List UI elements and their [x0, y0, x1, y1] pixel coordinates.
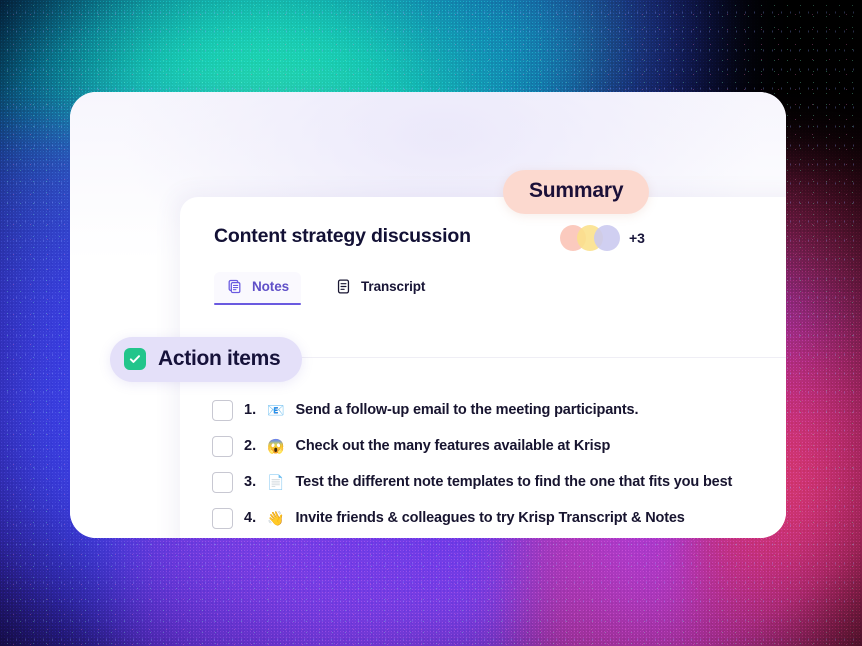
transcript-icon: [335, 278, 352, 295]
tab-transcript[interactable]: Transcript: [323, 272, 437, 304]
waving-hand-emoji: 👋: [267, 511, 284, 525]
avatar: [594, 225, 620, 251]
tab-notes[interactable]: Notes: [214, 272, 301, 304]
screaming-face-emoji: 😱: [267, 439, 284, 453]
avatar-overflow-count: +3: [629, 230, 645, 246]
email-emoji: 📧: [267, 403, 284, 417]
tab-bar: Notes Transcript: [214, 272, 772, 304]
action-items-label: Action items: [158, 347, 280, 371]
panel-header: Content strategy discussion Notes: [180, 197, 786, 304]
item-checkbox[interactable]: [212, 436, 233, 457]
item-checkbox[interactable]: [212, 472, 233, 493]
list-item[interactable]: 2. 😱 Check out the many features availab…: [212, 429, 848, 463]
item-number: 2.: [244, 438, 256, 454]
item-text: Invite friends & colleagues to try Krisp…: [296, 510, 685, 526]
list-item[interactable]: 3. 📄 Test the different note templates t…: [212, 465, 848, 499]
page-title: Content strategy discussion: [214, 225, 772, 248]
list-item[interactable]: 4. 👋 Invite friends & colleagues to try …: [212, 501, 848, 535]
checkbox-checked-icon: [124, 348, 146, 370]
item-text: Send a follow-up email to the meeting pa…: [296, 402, 639, 418]
page-emoji: 📄: [267, 475, 284, 489]
participant-avatars[interactable]: +3: [560, 225, 645, 251]
screenshot-stage: Content strategy discussion Notes: [0, 0, 862, 646]
item-text: Check out the many features available at…: [296, 438, 611, 454]
list-item[interactable]: 1. 📧 Send a follow-up email to the meeti…: [212, 393, 848, 427]
item-number: 3.: [244, 474, 256, 490]
item-text: Test the different note templates to fin…: [296, 474, 733, 490]
item-checkbox[interactable]: [212, 508, 233, 529]
item-number: 4.: [244, 510, 256, 526]
tab-transcript-label: Transcript: [361, 279, 425, 294]
action-items-badge[interactable]: Action items: [110, 337, 302, 382]
item-number: 1.: [244, 402, 256, 418]
notes-icon: [226, 278, 243, 295]
action-items-list: 1. 📧 Send a follow-up email to the meeti…: [212, 393, 848, 537]
tab-notes-label: Notes: [252, 279, 289, 294]
summary-badge[interactable]: Summary: [503, 170, 649, 214]
item-checkbox[interactable]: [212, 400, 233, 421]
avatar-stack: [560, 225, 620, 251]
